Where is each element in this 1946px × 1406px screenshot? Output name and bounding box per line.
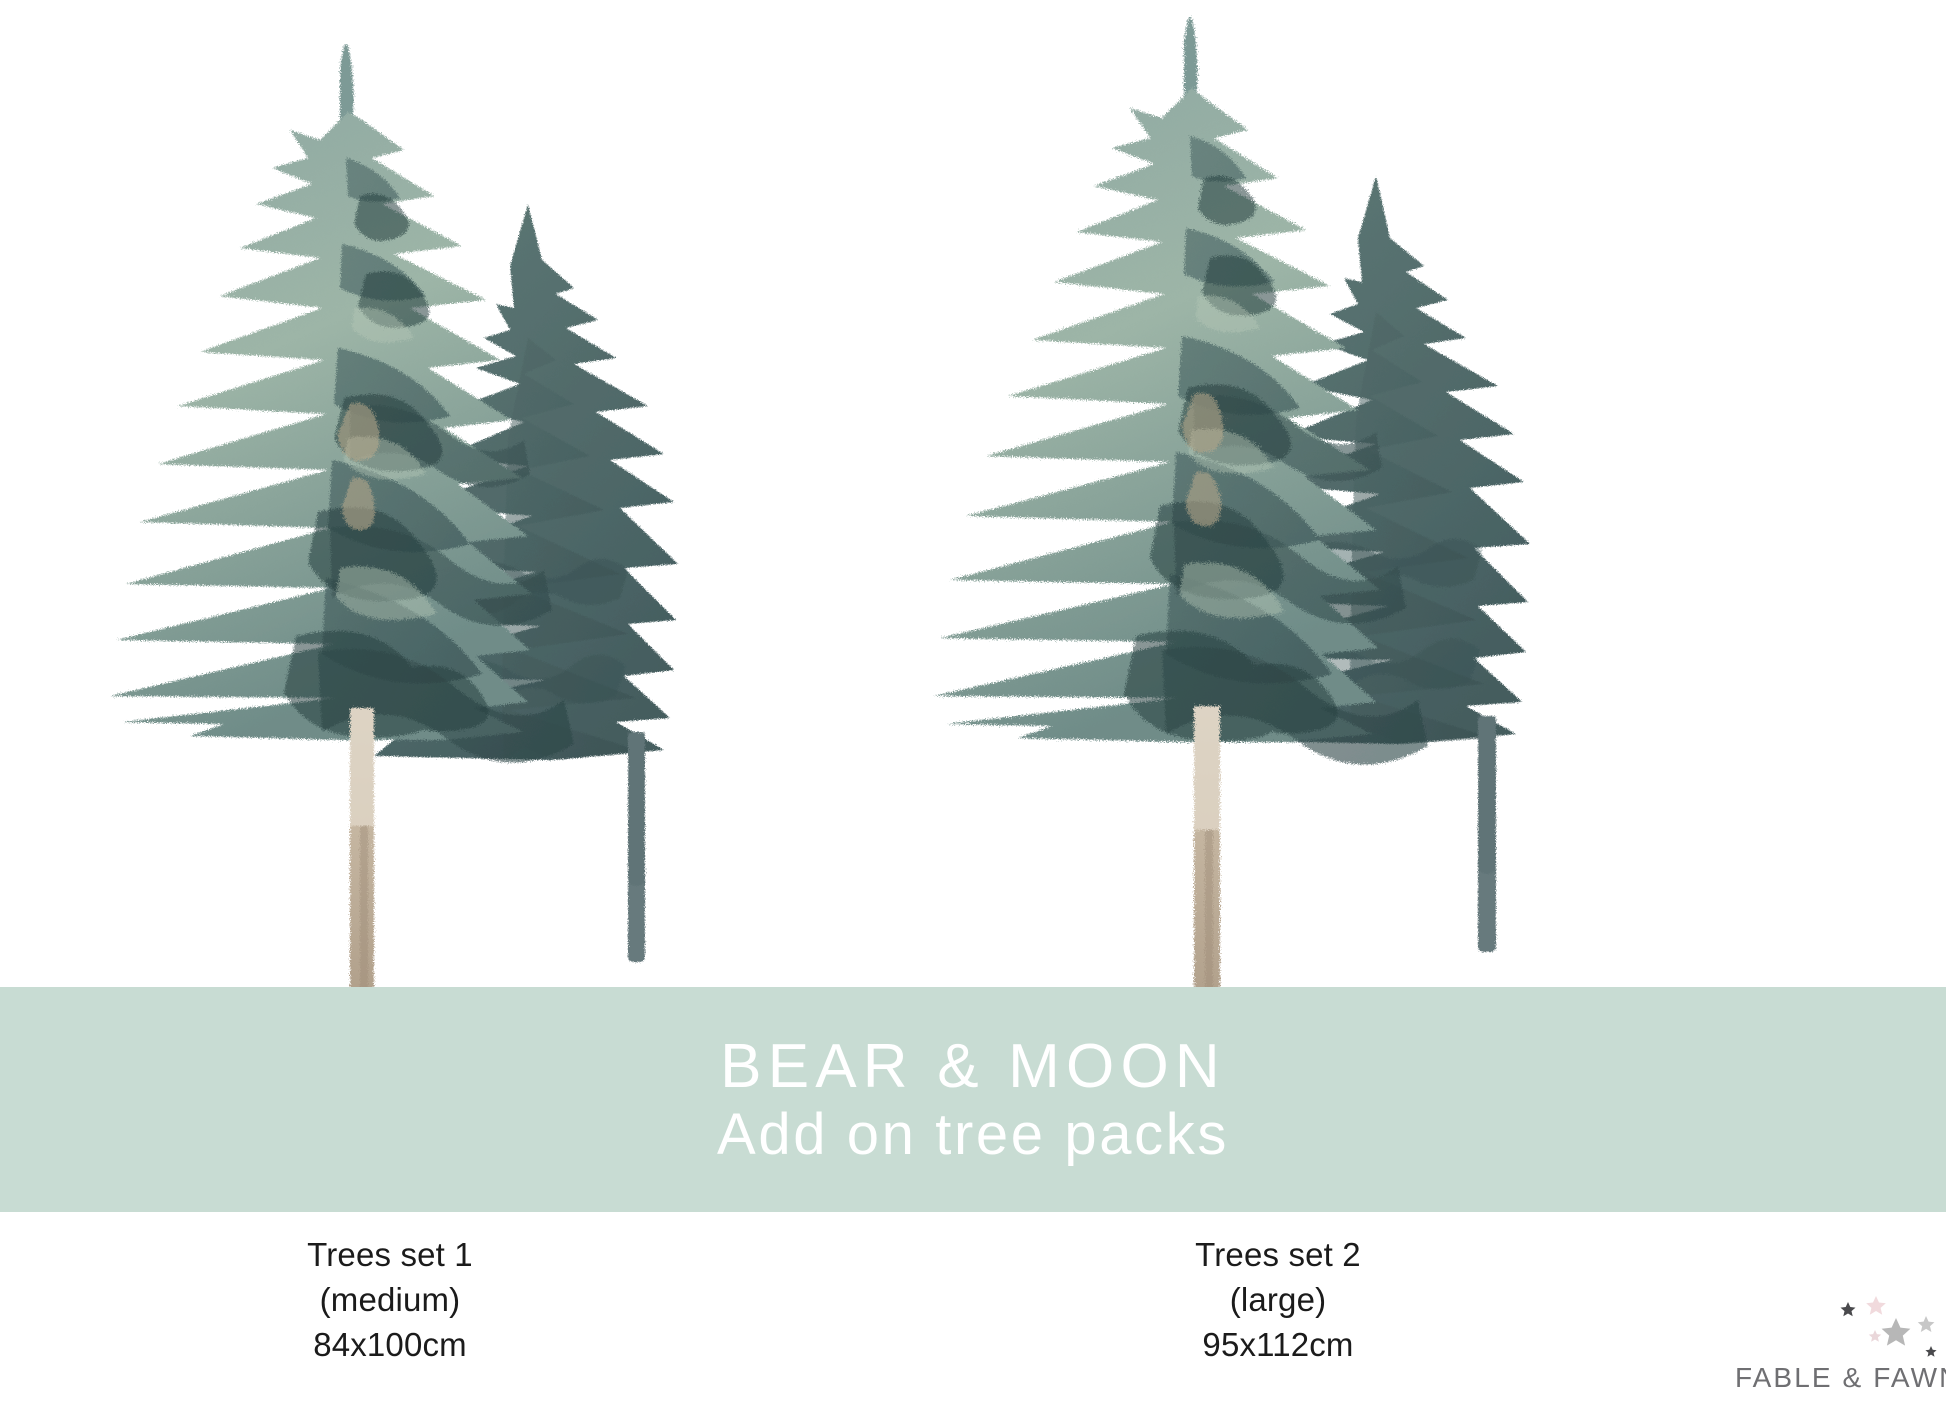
star-small-dark	[1841, 1302, 1856, 1316]
poster-canvas: BEAR & MOON Add on tree packs Trees set …	[0, 0, 1946, 1406]
product-caption-set-2: Trees set 2 (large) 95x112cm	[1068, 1232, 1488, 1368]
title-banner: BEAR & MOON Add on tree packs	[0, 987, 1946, 1212]
star-tiny-pink	[1869, 1330, 1881, 1342]
product-dimensions-set-1: 84x100cm	[180, 1322, 600, 1367]
star-tiny-dark	[1925, 1346, 1936, 1357]
product-dimensions-set-2: 95x112cm	[1068, 1322, 1488, 1367]
product-size-label-set-2: (large)	[1068, 1277, 1488, 1322]
star-pink	[1866, 1296, 1886, 1315]
product-name-set-1: Trees set 1	[180, 1232, 600, 1277]
banner-title: BEAR & MOON	[720, 1035, 1226, 1098]
product-caption-set-1: Trees set 1 (medium) 84x100cm	[180, 1232, 600, 1368]
logo-stars-decoration	[1833, 1296, 1943, 1362]
product-size-label-set-1: (medium)	[180, 1277, 600, 1322]
star-large-grey	[1882, 1318, 1911, 1346]
banner-subtitle: Add on tree packs	[717, 1105, 1229, 1164]
product-name-set-2: Trees set 2	[1068, 1232, 1488, 1277]
brand-logo: FABLE & FAWN	[1735, 1296, 1940, 1396]
tree-illustration-set-1	[104, 8, 724, 1058]
brand-name: FABLE & FAWN	[1735, 1362, 1940, 1394]
star-small-grey	[1918, 1316, 1935, 1332]
tree-illustration-set-2	[930, 0, 1550, 1070]
